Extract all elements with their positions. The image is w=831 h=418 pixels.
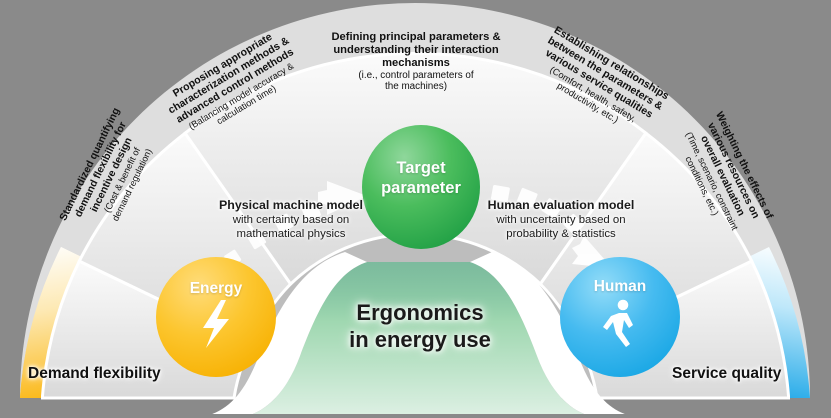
arc-segment-2-sub-line-1: (i.e., control parameters of bbox=[318, 70, 514, 81]
core-title-line-1: Ergonomics bbox=[320, 299, 520, 326]
arc-segment-2-title-line-1: Defining principal parameters & bbox=[318, 31, 514, 44]
physical-machine-model-caption: Physical machine model with certainty ba… bbox=[182, 198, 400, 241]
human-evaluation-model-line-1: with uncertainty based on bbox=[450, 213, 672, 227]
human-label: Human bbox=[556, 278, 684, 296]
human-evaluation-model-caption: Human evaluation model with uncertainty … bbox=[450, 198, 672, 241]
target-parameter-label: Target parameter bbox=[351, 158, 491, 198]
target-parameter-label-line-1: Target bbox=[351, 158, 491, 178]
service-quality-label: Service quality bbox=[672, 365, 781, 383]
canvas-bottom-edge bbox=[0, 414, 831, 418]
diagram-canvas: Standardized quantifying demand flexibil… bbox=[0, 0, 831, 418]
human-evaluation-model-heading: Human evaluation model bbox=[450, 198, 672, 213]
demand-flexibility-label: Demand flexibility bbox=[28, 365, 161, 383]
human-evaluation-model-line-2: probability & statistics bbox=[450, 227, 672, 241]
arc-segment-2-sub-line-2: the machines) bbox=[318, 81, 514, 92]
physical-machine-model-line-2: mathematical physics bbox=[182, 227, 400, 241]
target-parameter-label-line-2: parameter bbox=[351, 178, 491, 198]
physical-machine-model-heading: Physical machine model bbox=[182, 198, 400, 213]
energy-label: Energy bbox=[155, 280, 277, 298]
arc-segment-2-label: Defining principal parameters & understa… bbox=[318, 31, 514, 93]
arc-segment-2-title-line-2: understanding their interaction bbox=[318, 44, 514, 57]
arc-segment-2-title-line-3: mechanisms bbox=[318, 57, 514, 70]
core-title: Ergonomics in energy use bbox=[320, 299, 520, 353]
physical-machine-model-line-1: with certainty based on bbox=[182, 213, 400, 227]
core-title-line-2: in energy use bbox=[320, 326, 520, 353]
